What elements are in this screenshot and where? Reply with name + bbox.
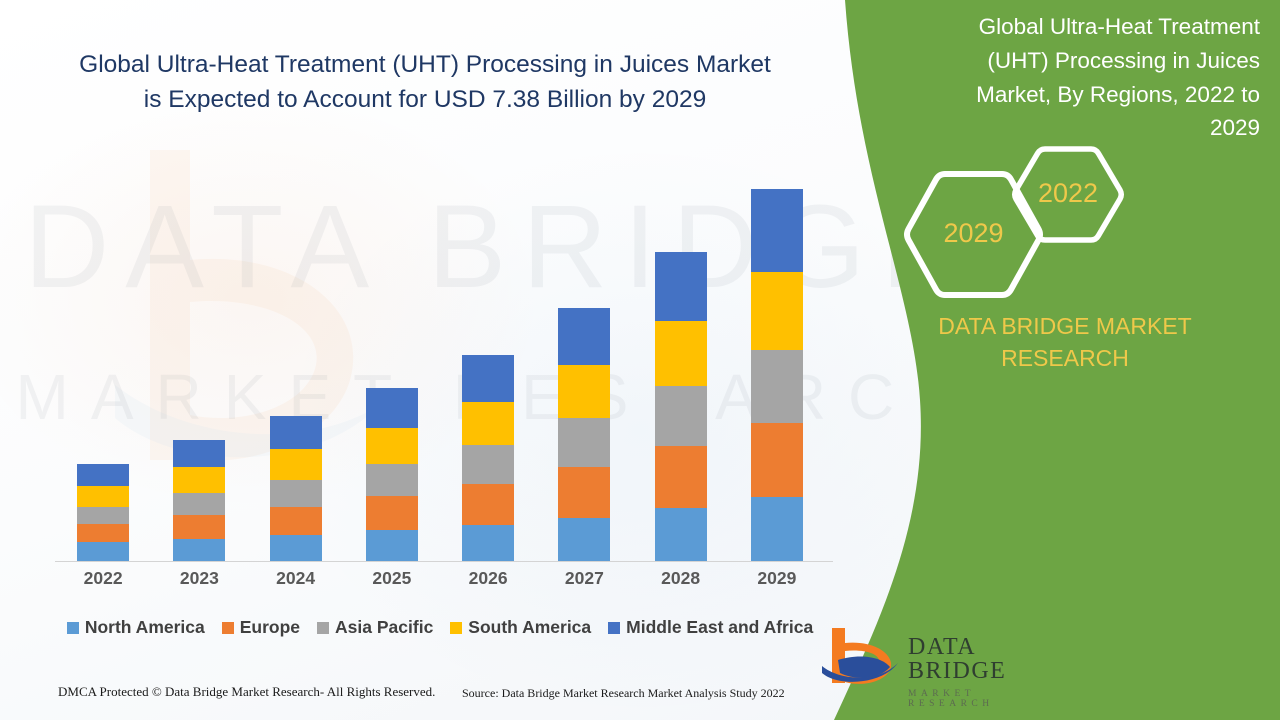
legend-label: Asia Pacific [335,617,433,638]
chart-legend: North AmericaEuropeAsia PacificSouth Ame… [55,617,825,638]
brand-name-line-1: DATA BRIDGE MARKET [865,310,1265,342]
source-note: Source: Data Bridge Market Research Mark… [462,686,785,701]
bar-segment [77,524,129,542]
bar-segment [173,467,225,493]
chart-baseline [55,561,833,562]
page-title: Global Ultra-Heat Treatment (UHT) Proces… [30,48,820,118]
stacked-bar-chart [55,150,825,562]
bar-segment [366,530,418,562]
side-panel-title-line-1: Global Ultra-Heat Treatment [920,10,1260,44]
brand-name-line-2: RESEARCH [865,342,1265,374]
bar-segment [751,272,803,351]
bar-segment [173,515,225,538]
x-tick-2023: 2023 [154,568,244,589]
bar-2028 [655,252,707,562]
x-tick-2025: 2025 [347,568,437,589]
bar-segment [462,445,514,484]
bar-segment [655,508,707,562]
bar-segment [751,350,803,423]
page-title-line-2: is Expected to Account for USD 7.38 Bill… [30,83,820,118]
brand-name: DATA BRIDGE MARKET RESEARCH [865,310,1265,374]
bar-segment [751,189,803,271]
bar-2027 [558,308,610,562]
legend-swatch-icon [222,622,234,634]
data-bridge-b-logo-icon [820,625,900,687]
x-tick-2029: 2029 [732,568,822,589]
bar-2022 [77,464,129,562]
hexagon-2022-label: 2022 [1038,178,1098,208]
bar-segment [655,252,707,321]
bar-segment [558,365,610,418]
data-bridge-logo: DATA BRIDGE MARKET RESEARCH [820,625,1060,697]
x-tick-2024: 2024 [251,568,341,589]
bar-segment [173,539,225,562]
hexagon-2029-label: 2029 [943,218,1003,248]
side-panel: Global Ultra-Heat Treatment (UHT) Proces… [810,0,1280,720]
bar-segment [751,423,803,497]
legend-item[interactable]: South America [450,617,591,638]
bar-2029 [751,189,803,562]
bar-segment [558,418,610,467]
legend-item[interactable]: Asia Pacific [317,617,433,638]
side-panel-title-line-3: Market, By Regions, 2022 to [920,78,1260,112]
bar-segment [558,308,610,365]
bar-segment [462,484,514,525]
legend-swatch-icon [317,622,329,634]
legend-item[interactable]: North America [67,617,205,638]
bar-segment [558,467,610,517]
bar-2024 [270,416,322,562]
bar-2023 [173,440,225,562]
bar-segment [270,480,322,507]
x-tick-2022: 2022 [58,568,148,589]
bar-segment [77,486,129,507]
bar-segment [173,493,225,515]
copyright-notice: DMCA Protected © Data Bridge Market Rese… [58,684,435,700]
logo-subtitle: MARKET RESEARCH [908,689,1060,709]
bar-segment [173,440,225,467]
legend-swatch-icon [608,622,620,634]
bar-segment [655,386,707,446]
legend-item[interactable]: Europe [222,617,300,638]
side-panel-title-line-2: (UHT) Processing in Juices [920,44,1260,78]
chart-plot-area [55,150,825,562]
bar-segment [270,449,322,480]
x-tick-2027: 2027 [539,568,629,589]
legend-label: Middle East and Africa [626,617,813,638]
bar-2026 [462,355,514,562]
x-tick-2028: 2028 [636,568,726,589]
x-tick-2026: 2026 [443,568,533,589]
logo-title: DATA BRIDGE [908,635,1060,683]
bar-segment [366,388,418,427]
legend-item[interactable]: Middle East and Africa [608,617,813,638]
legend-swatch-icon [67,622,79,634]
side-panel-title: Global Ultra-Heat Treatment (UHT) Proces… [920,10,1260,145]
bar-segment [77,507,129,524]
bar-segment [77,464,129,486]
legend-swatch-icon [450,622,462,634]
legend-label: South America [468,617,591,638]
bar-segment [462,402,514,445]
bar-segment [270,507,322,535]
bar-segment [270,416,322,449]
legend-label: Europe [240,617,300,638]
bar-segment [558,518,610,562]
bar-segment [270,535,322,562]
data-bridge-logo-text: DATA BRIDGE MARKET RESEARCH [908,635,1060,709]
bar-segment [655,321,707,386]
chart-x-axis: 20222023202420252026202720282029 [55,568,825,594]
bar-segment [751,497,803,562]
bar-2025 [366,388,418,562]
bar-segment [366,496,418,530]
bar-segment [462,525,514,562]
bar-segment [77,542,129,562]
bar-segment [655,446,707,508]
bar-segment [462,355,514,402]
hexagon-badges: 2022 2029 [895,140,1145,305]
bar-segment [366,464,418,496]
legend-label: North America [85,617,205,638]
bar-segment [366,428,418,464]
page-title-line-1: Global Ultra-Heat Treatment (UHT) Proces… [30,48,820,83]
